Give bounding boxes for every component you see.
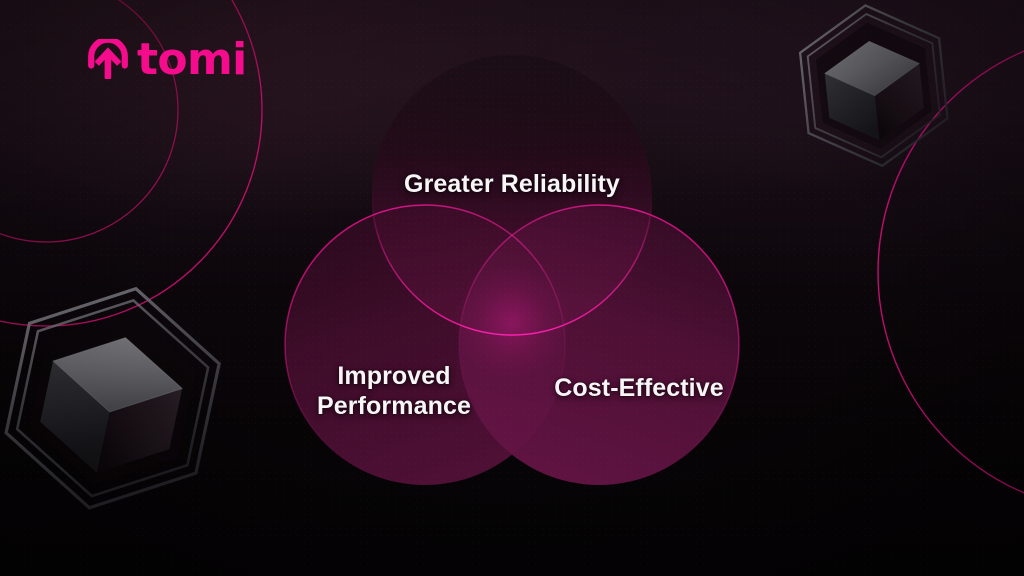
brand-wordmark: tomi bbox=[137, 38, 247, 82]
tomi-arrow-arch-icon bbox=[88, 39, 128, 81]
venn-label-greater-reliability: Greater Reliability bbox=[347, 170, 677, 200]
venn-label-cost-effective: Cost-Effective bbox=[494, 374, 784, 404]
slide-canvas: Greater Reliability Improved Performance… bbox=[0, 0, 1024, 576]
brand-logo[interactable]: tomi bbox=[88, 38, 247, 82]
venn-diagram bbox=[0, 0, 1024, 576]
